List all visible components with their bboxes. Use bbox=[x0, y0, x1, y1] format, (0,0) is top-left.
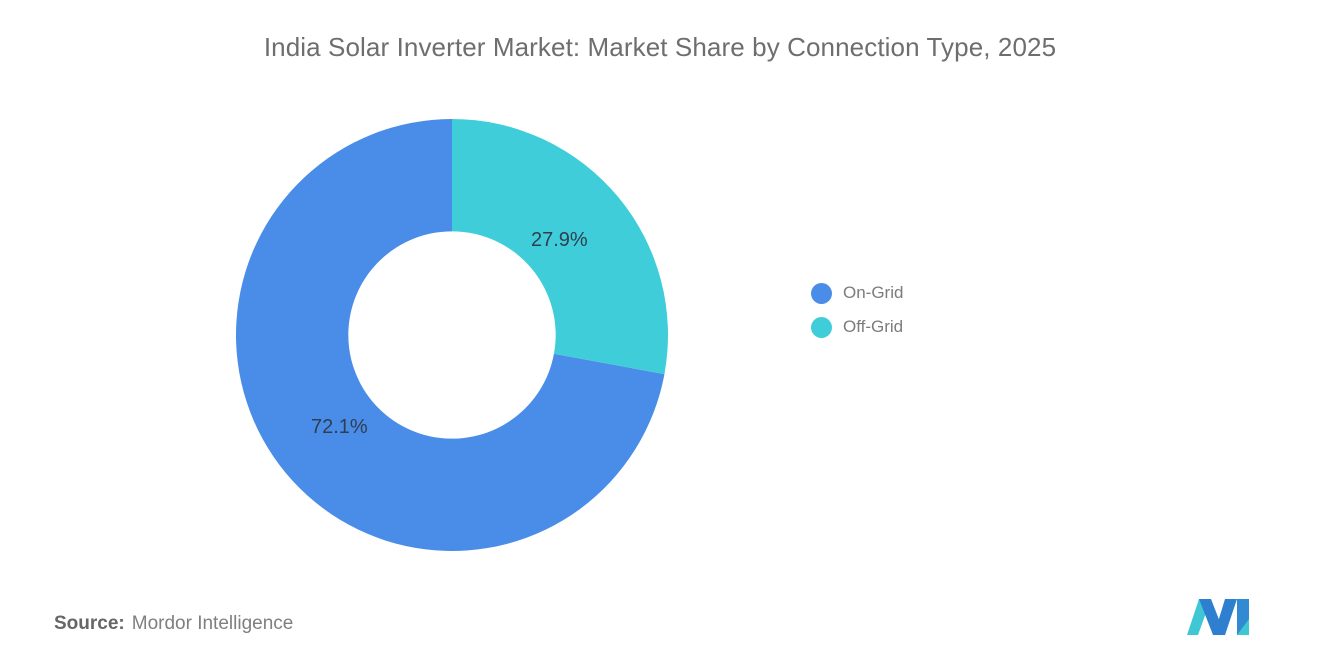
legend-swatch-off-grid bbox=[811, 317, 832, 338]
chart-legend: On-Grid Off-Grid bbox=[811, 282, 903, 338]
donut-chart bbox=[236, 119, 668, 551]
source-label: Source: bbox=[54, 613, 125, 634]
legend-item-off-grid[interactable]: Off-Grid bbox=[811, 316, 903, 338]
source-value: Mordor Intelligence bbox=[132, 613, 294, 634]
legend-label-off-grid: Off-Grid bbox=[843, 317, 903, 337]
mordor-intelligence-logo bbox=[1185, 597, 1255, 637]
donut-chart-svg bbox=[236, 119, 668, 551]
pie-label-off-grid: 27.9% bbox=[531, 229, 588, 252]
source-line: Source:Mordor Intelligence bbox=[54, 613, 293, 635]
legend-item-on-grid[interactable]: On-Grid bbox=[811, 282, 903, 304]
legend-swatch-on-grid bbox=[811, 283, 832, 304]
chart-title: India Solar Inverter Market: Market Shar… bbox=[0, 32, 1320, 63]
pie-label-on-grid: 72.1% bbox=[311, 416, 368, 439]
legend-label-on-grid: On-Grid bbox=[843, 283, 903, 303]
